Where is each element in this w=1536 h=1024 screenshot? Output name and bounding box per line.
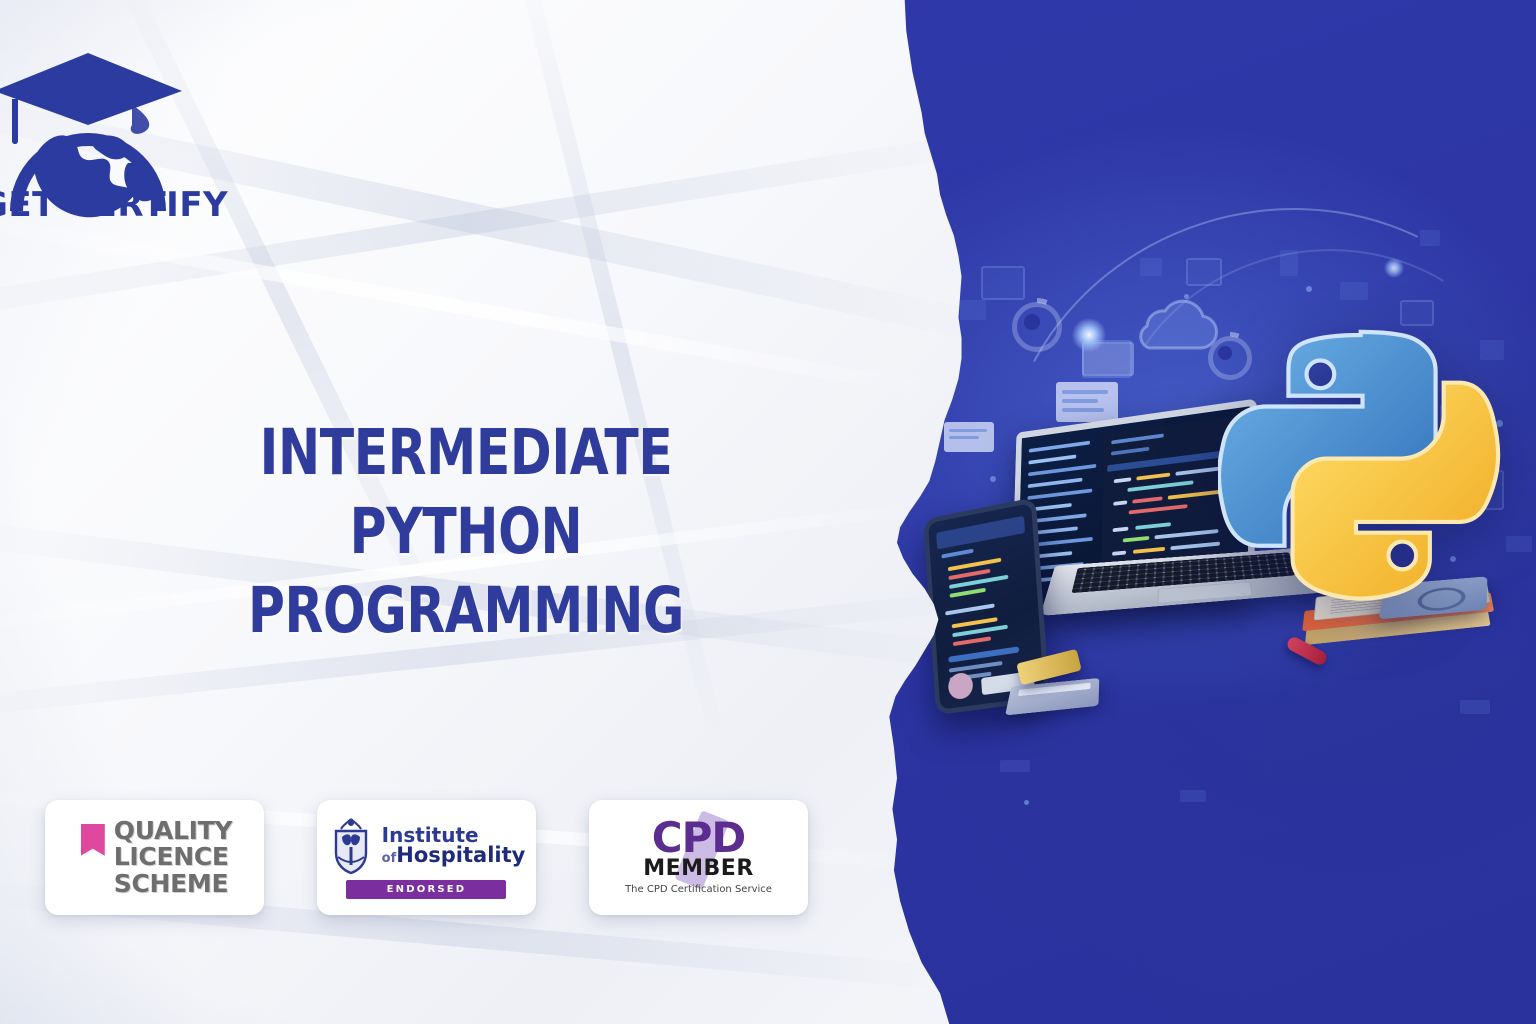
cpd-line-1: CPD <box>652 819 745 858</box>
badge-cpd-member[interactable]: CPD MEMBER The CPD Certification Service <box>589 800 808 915</box>
qls-line-1: QUALITY <box>114 818 232 845</box>
page-title: INTERMEDIATE PYTHON PROGRAMMING <box>141 414 791 650</box>
qls-line-3: SCHEME <box>114 871 232 898</box>
ioh-line-2: Hospitality <box>396 843 525 867</box>
title-line-2: PROGRAMMING <box>141 572 791 651</box>
promotional-banner: GET CERTIFY INTERMEDIATE PYTHON PROGRAMM… <box>0 0 1536 1024</box>
badge-quality-licence-scheme[interactable]: QUALITY LICENCE SCHEME <box>45 800 264 915</box>
heraldic-crest-icon <box>328 817 374 875</box>
cpd-line-3: The CPD Certification Service <box>625 884 772 896</box>
endorsed-badge: ENDORSED <box>346 880 506 899</box>
cpd-line-2: MEMBER <box>643 858 754 880</box>
badge-institute-of-hospitality[interactable]: Institute ofHospitality ENDORSED <box>317 800 536 915</box>
ioh-of: of <box>382 851 397 866</box>
ioh-line-1: Institute <box>382 825 526 845</box>
bookmark-ribbon-icon <box>81 824 105 856</box>
title-line-1: INTERMEDIATE PYTHON <box>260 416 673 568</box>
brand-name: GET CERTIFY <box>0 185 228 225</box>
qls-line-2: LICENCE <box>114 844 232 871</box>
accreditation-badges: QUALITY LICENCE SCHEME <box>45 800 808 915</box>
cloud-icon <box>1125 298 1221 354</box>
python-logo-icon <box>1218 318 1506 606</box>
